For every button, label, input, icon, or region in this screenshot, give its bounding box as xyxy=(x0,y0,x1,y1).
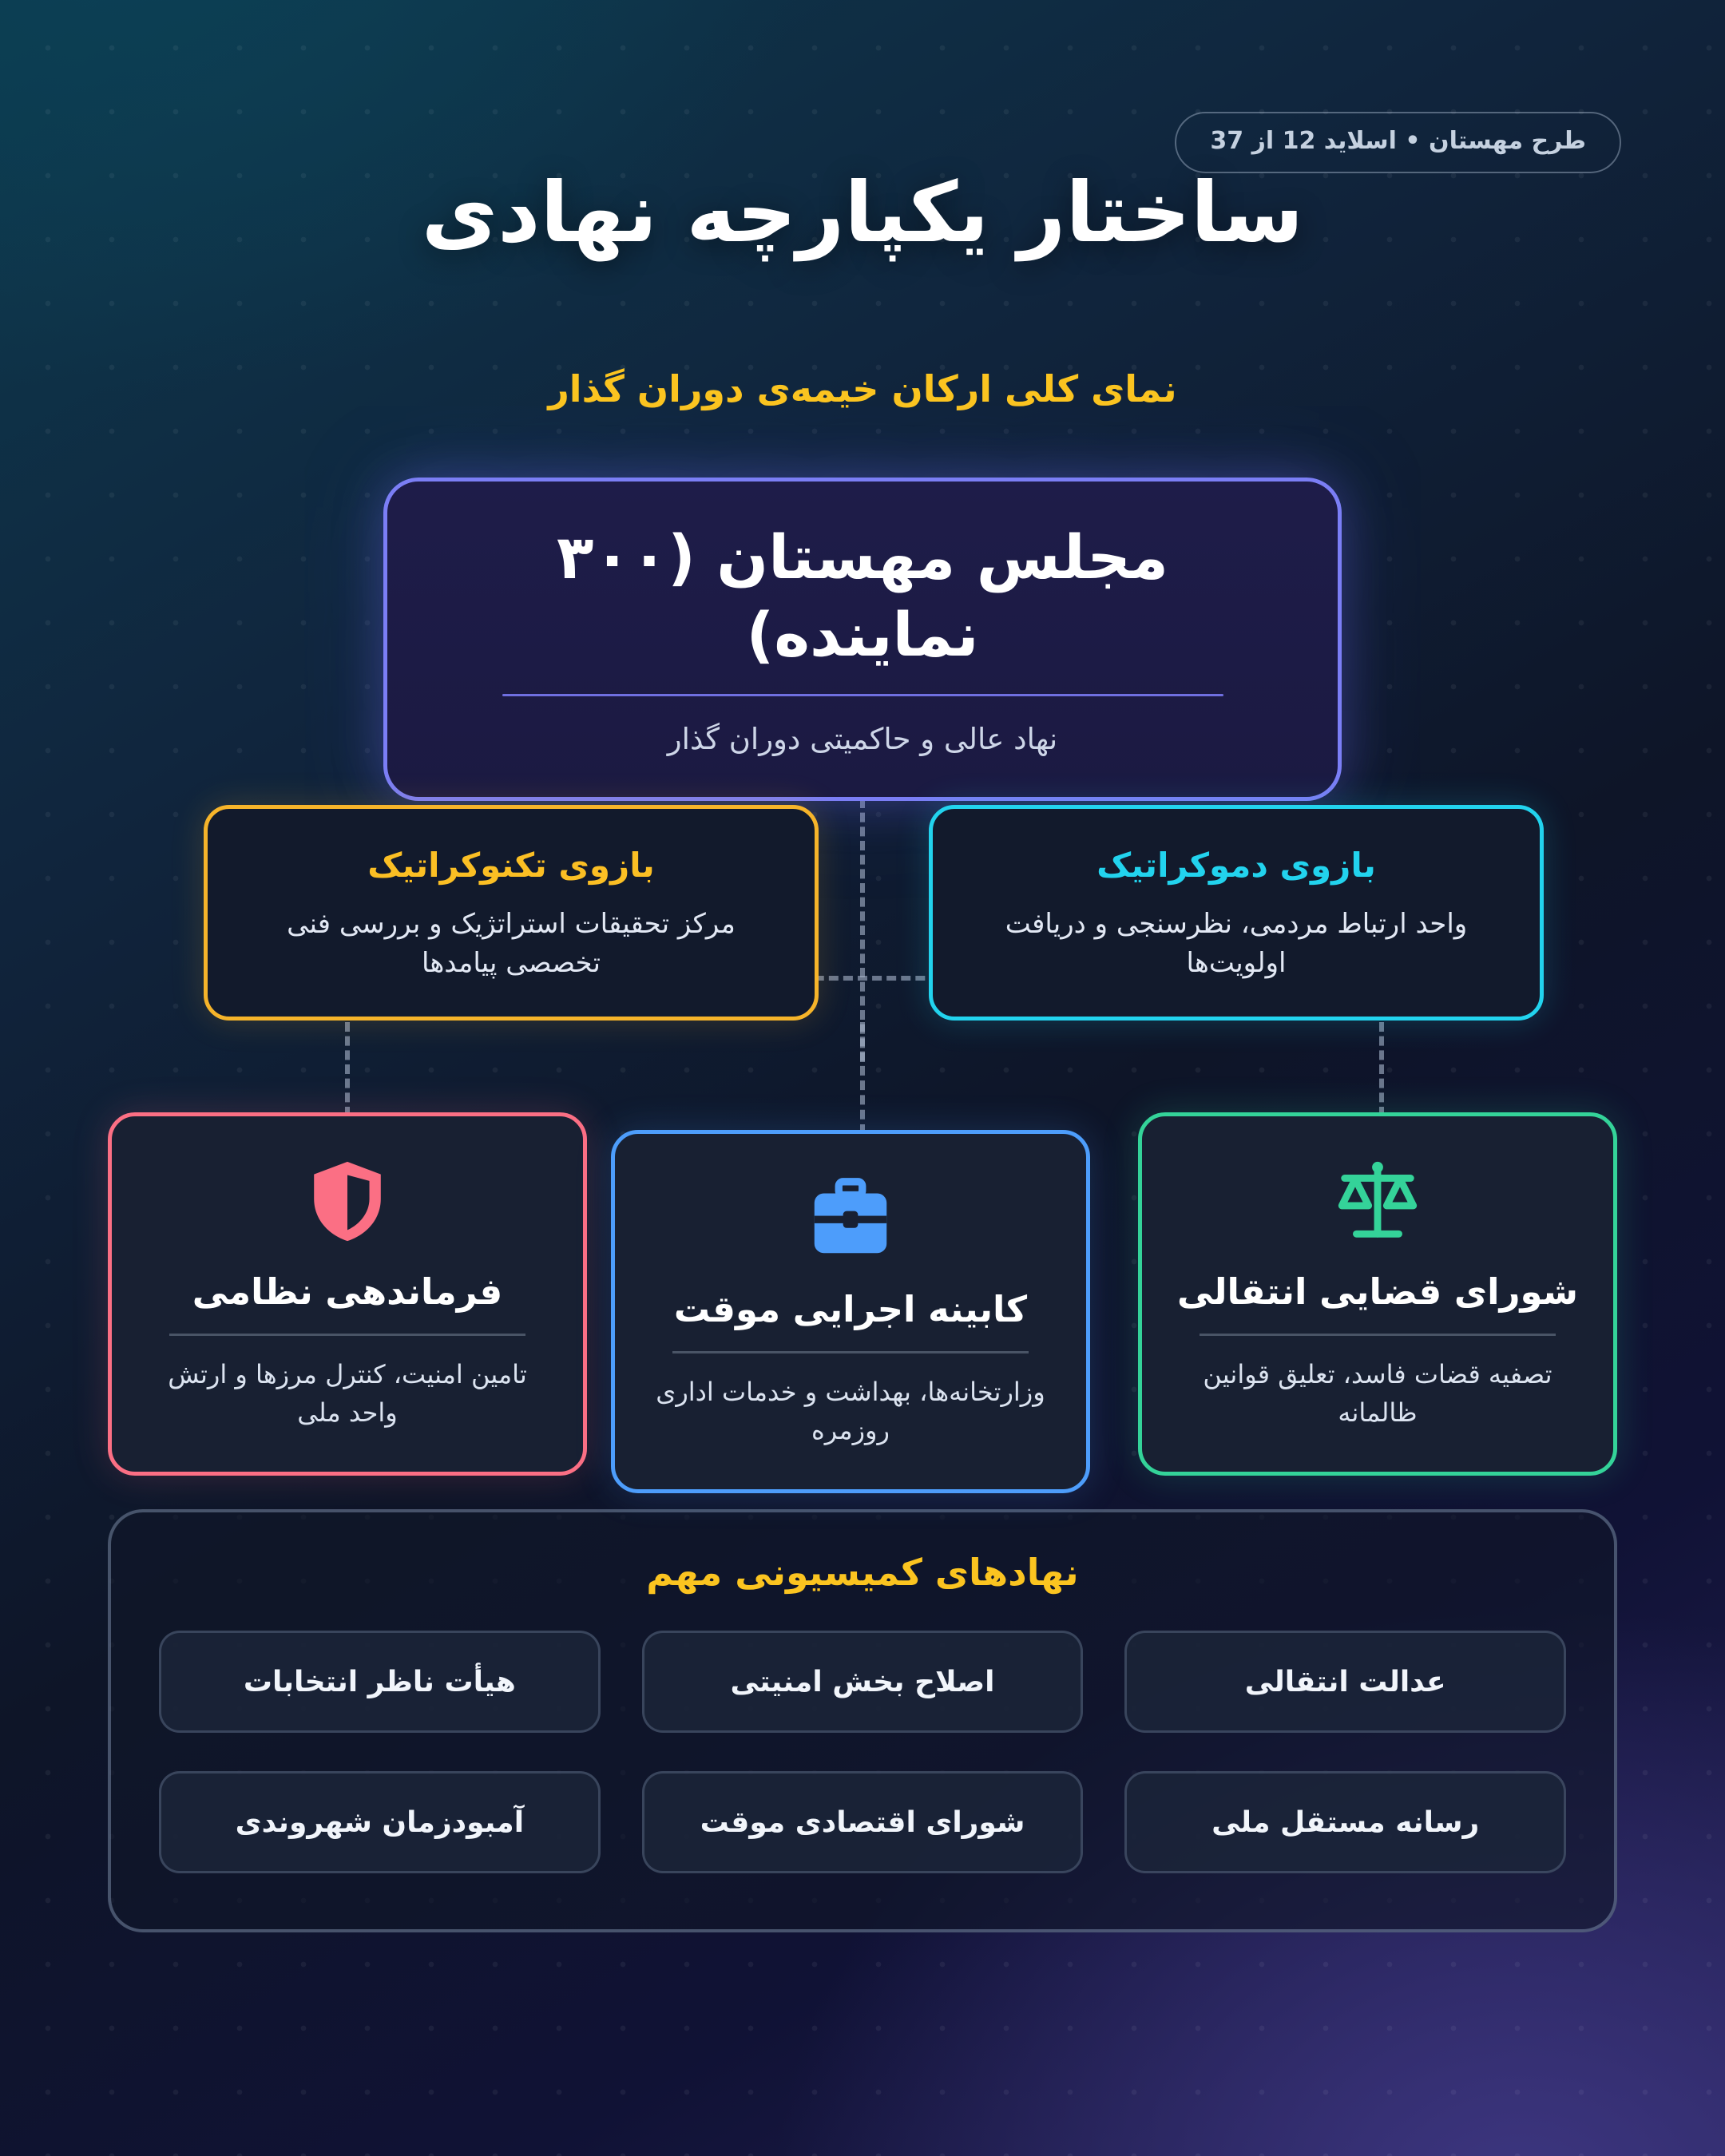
commissions-panel: نهادهای کمیسیونی مهم عدالت انتقالی اصلاح… xyxy=(108,1509,1617,1932)
page-title: ساختار یکپارچه نهادی xyxy=(0,160,1725,266)
commission-chip[interactable]: هیأت ناظر انتخابات xyxy=(159,1631,601,1733)
pillar-divider-military xyxy=(169,1334,525,1336)
commission-chip[interactable]: رسانه مستقل ملی xyxy=(1124,1771,1566,1873)
arm-desc-technocratic: مرکز تحقیقات استراتژیک و بررسی فنی تخصصی… xyxy=(243,905,779,984)
arm-title-technocratic: بازوی تکنوکراتیک xyxy=(367,845,654,887)
shield-icon xyxy=(300,1153,395,1249)
pillar-divider-cabinet xyxy=(672,1351,1028,1353)
pillar-title-cabinet: کابینه اجرایی موقت xyxy=(674,1287,1027,1332)
pillar-desc-cabinet: وزارتخانه‌ها، بهداشت و خدمات اداری روزمر… xyxy=(648,1373,1053,1449)
page-subtitle: نمای کلی ارکان خیمه‌ی دوران گذار xyxy=(0,363,1725,414)
commissions-grid: عدالت انتقالی اصلاح بخش امنیتی هیأت ناظر… xyxy=(159,1631,1566,1873)
commission-chip[interactable]: اصلاح بخش امنیتی xyxy=(642,1631,1084,1733)
commission-chip[interactable]: شورای اقتصادی موقت xyxy=(642,1771,1084,1873)
commission-chip[interactable]: آمبودزمان شهروندی xyxy=(159,1771,601,1873)
arm-title-democratic: بازوی دموکراتیک xyxy=(1096,845,1376,887)
pillar-card-judiciary[interactable]: شورای قضایی انتقالی تصفیه قضات فاسد، تعل… xyxy=(1138,1112,1617,1476)
council-title: مجلس مهستان (۳۰۰ نماینده) xyxy=(443,518,1282,674)
pillar-desc-military: تامین امنیت، کنترل مرزها و ارتش واحد ملی xyxy=(145,1355,549,1432)
connector-to-judiciary xyxy=(1379,1022,1384,1116)
slide-content: طرح مهستان • اسلاید 12 از 37 ساختار یکپا… xyxy=(0,0,1725,2156)
scales-icon xyxy=(1330,1153,1425,1249)
commissions-title: نهادهای کمیسیونی مهم xyxy=(159,1551,1566,1594)
connector-to-military xyxy=(345,1022,350,1116)
arm-card-democratic[interactable]: بازوی دموکراتیک واحد ارتباط مردمی، نظرسن… xyxy=(929,805,1544,1021)
pillar-title-military: فرماندهی نظامی xyxy=(192,1270,503,1314)
pillar-card-military[interactable]: فرماندهی نظامی تامین امنیت، کنترل مرزها … xyxy=(108,1112,587,1476)
commission-chip[interactable]: عدالت انتقالی xyxy=(1124,1631,1566,1733)
connector-to-cabinet xyxy=(860,1022,865,1134)
council-subtitle: نهاد عالی و حاکمیتی دوران گذار xyxy=(668,719,1057,760)
pillar-card-cabinet[interactable]: کابینه اجرایی موقت وزارتخانه‌ها، بهداشت … xyxy=(611,1130,1090,1493)
arm-card-technocratic[interactable]: بازوی تکنوکراتیک مرکز تحقیقات استراتژیک … xyxy=(204,805,819,1021)
pillar-divider-judiciary xyxy=(1200,1334,1555,1336)
arm-desc-democratic: واحد ارتباط مردمی، نظرسنجی و دریافت اولو… xyxy=(968,905,1505,984)
pillar-title-judiciary: شورای قضایی انتقالی xyxy=(1177,1270,1578,1314)
council-divider xyxy=(502,694,1223,696)
pillar-desc-judiciary: تصفیه قضات فاسد، تعلیق قوانین ظالمانه xyxy=(1176,1355,1580,1432)
briefcase-icon xyxy=(803,1171,898,1266)
council-card[interactable]: مجلس مهستان (۳۰۰ نماینده) نهاد عالی و حا… xyxy=(383,478,1342,801)
